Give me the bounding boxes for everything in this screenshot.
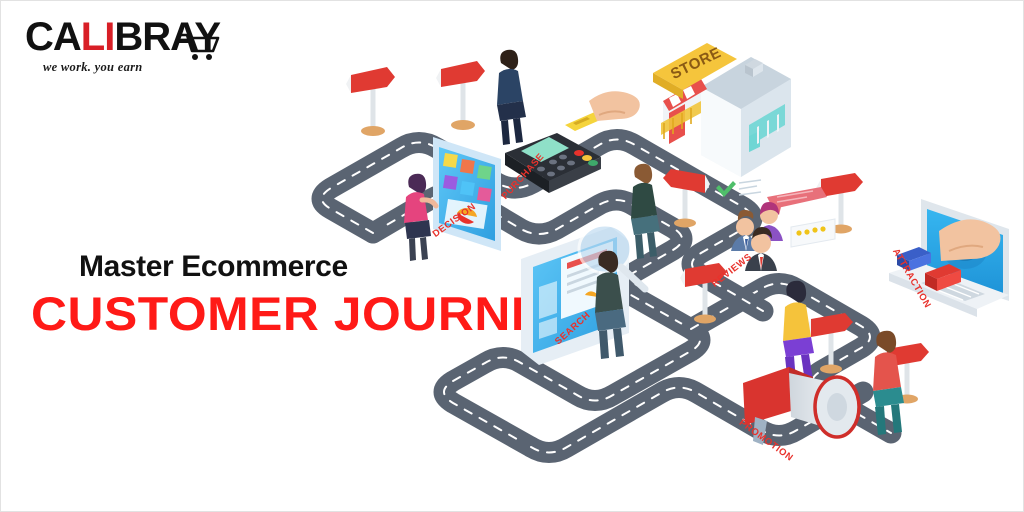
signpost (436, 61, 485, 130)
character-man-green (631, 164, 660, 259)
character-man-navy (497, 50, 526, 145)
star-rating (791, 219, 835, 247)
search-screen (521, 225, 645, 365)
hand-with-card (589, 91, 640, 121)
character-woman-pink (401, 174, 436, 261)
signpost (346, 67, 395, 136)
marketing-banner: CALIBRAY we work. you earn Master Ecomme… (0, 0, 1024, 512)
customer-journey-illustration: DECISION PURCHASE SEARCH REVIEWS PROMOTI… (1, 1, 1024, 512)
laptop-magnet (889, 199, 1009, 317)
